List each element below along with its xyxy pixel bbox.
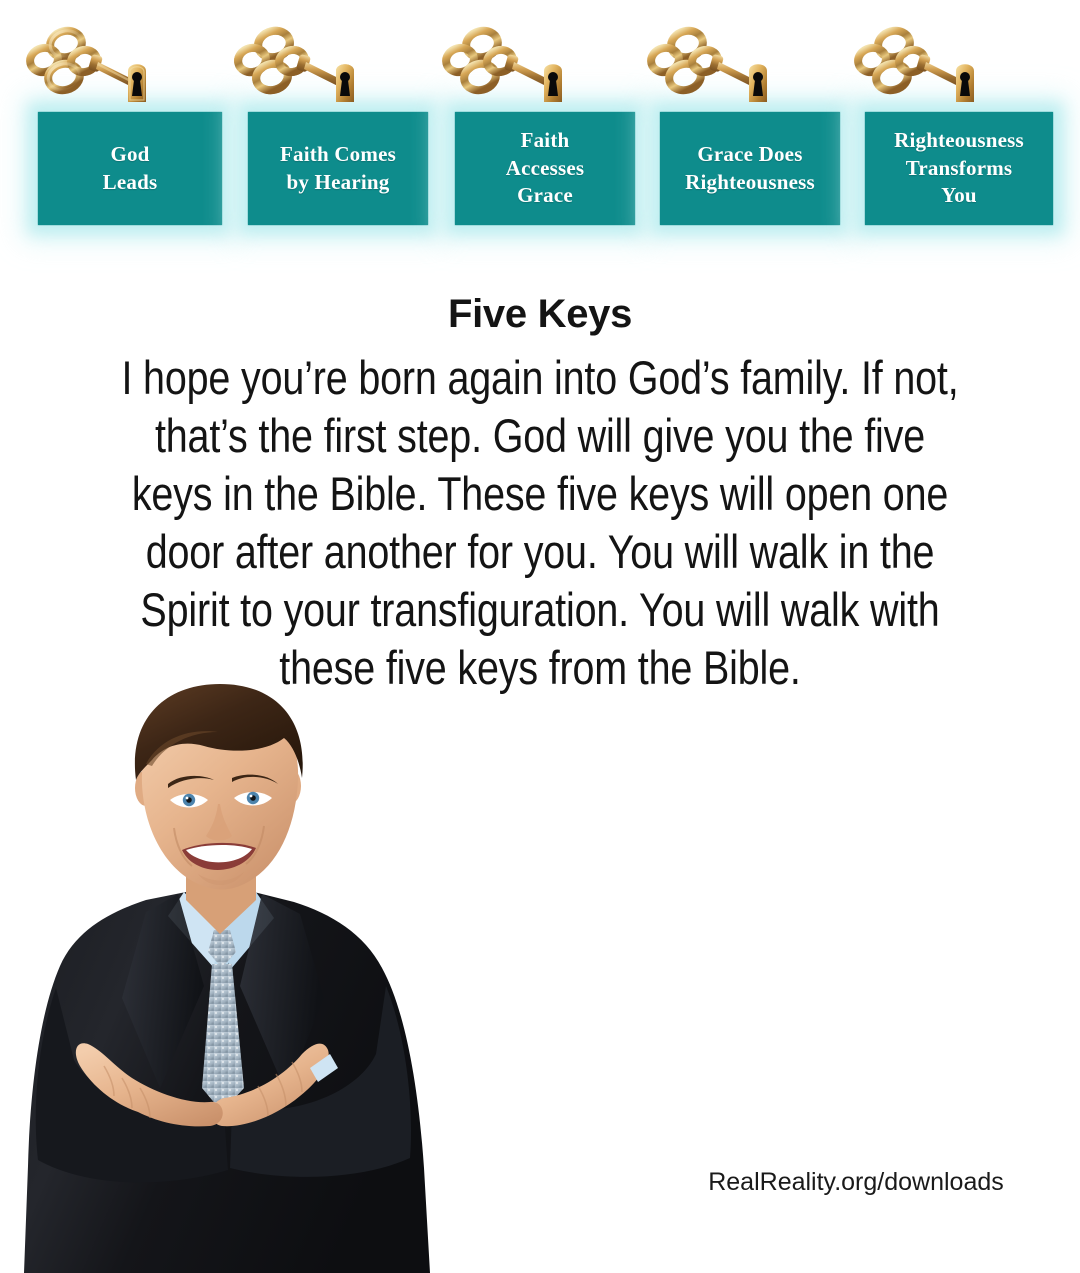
key-card-faith-accesses-grace[interactable]: Faith Accesses Grace — [455, 112, 635, 225]
key-card-grace-does-righteousness[interactable]: Grace Does Righteousness — [660, 112, 840, 225]
gold-skeleton-key-icon — [232, 22, 382, 122]
key-card-label: Righteousness Transforms You — [890, 127, 1028, 210]
gold-skeleton-key-icon — [24, 22, 174, 122]
five-keys-banner: God Leads Faith Comes by Hearing Faith A… — [0, 0, 1080, 248]
key-card-faith-comes-by-hearing[interactable]: Faith Comes by Hearing — [248, 112, 428, 225]
gold-skeleton-key-icon — [440, 22, 590, 122]
card-body: God Leads — [38, 112, 222, 225]
card-body: Faith Comes by Hearing — [248, 112, 428, 225]
key-card-label: Faith Accesses Grace — [502, 127, 589, 210]
key-card-righteousness-transforms-you[interactable]: Righteousness Transforms You — [865, 112, 1053, 225]
key-card-label: Faith Comes by Hearing — [276, 141, 400, 196]
footer-url[interactable]: RealReality.org/downloads — [0, 1168, 1080, 1197]
footer-url-text: RealReality.org/downloads — [708, 1168, 1004, 1197]
gold-skeleton-key-icon — [645, 22, 795, 122]
card-body: Righteousness Transforms You — [865, 112, 1053, 225]
gold-skeleton-key-icon — [852, 22, 1002, 122]
card-body: Grace Does Righteousness — [660, 112, 840, 225]
key-card-label: God Leads — [99, 141, 162, 196]
body-paragraph: I hope you’re born again into God’s fami… — [120, 349, 960, 697]
key-card-label: Grace Does Righteousness — [681, 141, 819, 196]
page-title: Five Keys — [0, 294, 1080, 334]
card-body: Faith Accesses Grace — [455, 112, 635, 225]
key-card-god-leads[interactable]: God Leads — [38, 112, 222, 225]
